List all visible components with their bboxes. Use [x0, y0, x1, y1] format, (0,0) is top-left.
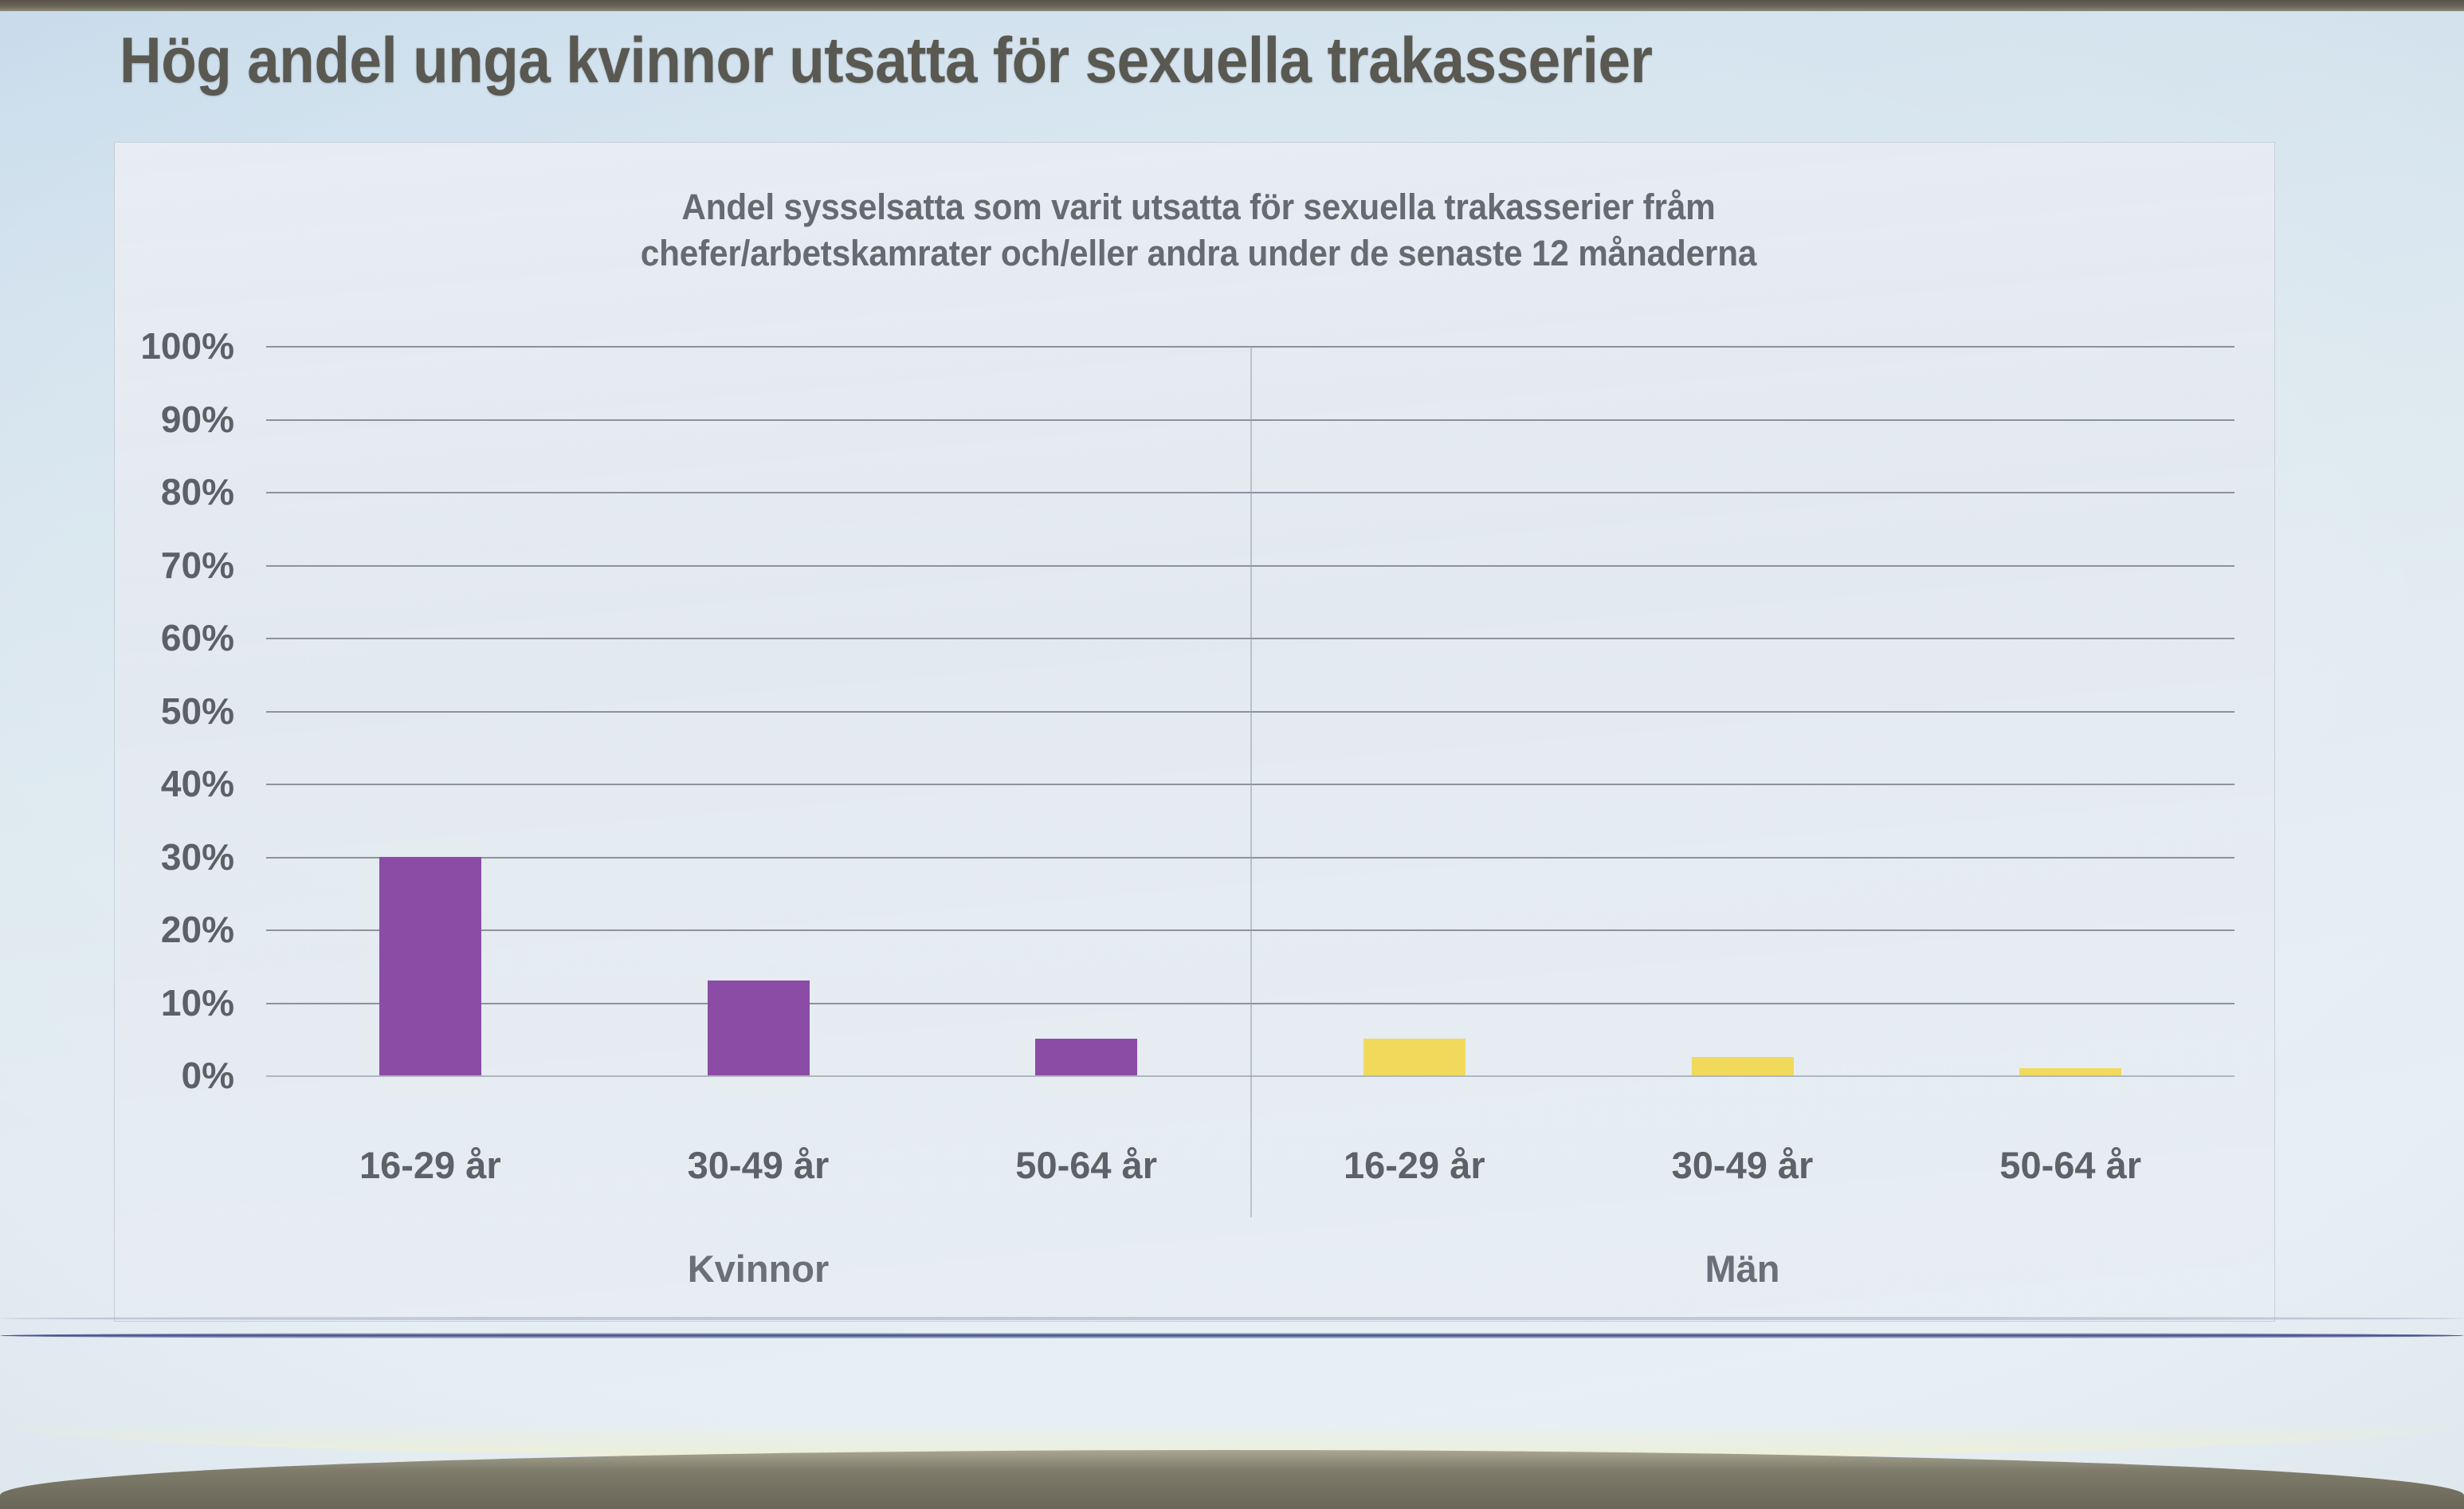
bar — [1363, 1039, 1465, 1075]
x-axis-group-label: Män — [1705, 1247, 1780, 1291]
screen-bottom-edge — [0, 1450, 2464, 1509]
x-axis-category-label: 50-64 år — [1015, 1143, 1157, 1187]
x-axis-category-label: 30-49 år — [1672, 1143, 1814, 1187]
bar — [379, 857, 481, 1076]
chart-title-line-2: chefer/arbetskamrater och/eller andra un… — [315, 230, 2082, 277]
x-axis-category-label: 50-64 år — [1999, 1143, 2141, 1187]
bar — [708, 980, 810, 1075]
screen-top-edge — [0, 0, 2464, 11]
x-axis-category-label: 16-29 år — [1344, 1143, 1485, 1187]
presentation-slide: Hög andel unga kvinnor utsatta för sexue… — [0, 0, 2464, 1509]
y-axis-tick-label: 90% — [43, 398, 234, 441]
chart-panel: Andel sysselsatta som varit utsatta för … — [114, 142, 2275, 1322]
y-axis-tick-label: 40% — [43, 762, 234, 805]
y-axis-tick-label: 100% — [43, 324, 234, 367]
footer-rule-soft — [0, 1317, 2464, 1320]
chart-title: Andel sysselsatta som varit utsatta för … — [315, 184, 2082, 276]
y-axis-tick-label: 80% — [43, 470, 234, 513]
group-divider — [1250, 346, 1252, 1217]
chart-title-line-1: Andel sysselsatta som varit utsatta för … — [315, 184, 2082, 230]
x-axis-category-label: 16-29 år — [359, 1143, 501, 1187]
y-axis-tick-label: 20% — [43, 908, 234, 951]
y-axis-tick-label: 30% — [43, 835, 234, 878]
bar — [1692, 1057, 1794, 1075]
plot-area: 0%10%20%30%40%50%60%70%80%90%100% 16-29 … — [266, 346, 2234, 1075]
y-axis-tick-label: 70% — [43, 544, 234, 587]
footer-rule — [0, 1333, 2464, 1338]
x-axis-category-label: 30-49 år — [688, 1143, 830, 1187]
x-axis-group-label: Kvinnor — [688, 1247, 830, 1291]
y-axis-tick-label: 0% — [43, 1054, 234, 1097]
y-axis-tick-label: 10% — [43, 981, 234, 1024]
bar — [2019, 1068, 2121, 1075]
y-axis-tick-label: 50% — [43, 690, 234, 733]
bar — [1035, 1039, 1137, 1075]
y-axis-tick-label: 60% — [43, 616, 234, 659]
page-title: Hög andel unga kvinnor utsatta för sexue… — [120, 24, 2056, 98]
